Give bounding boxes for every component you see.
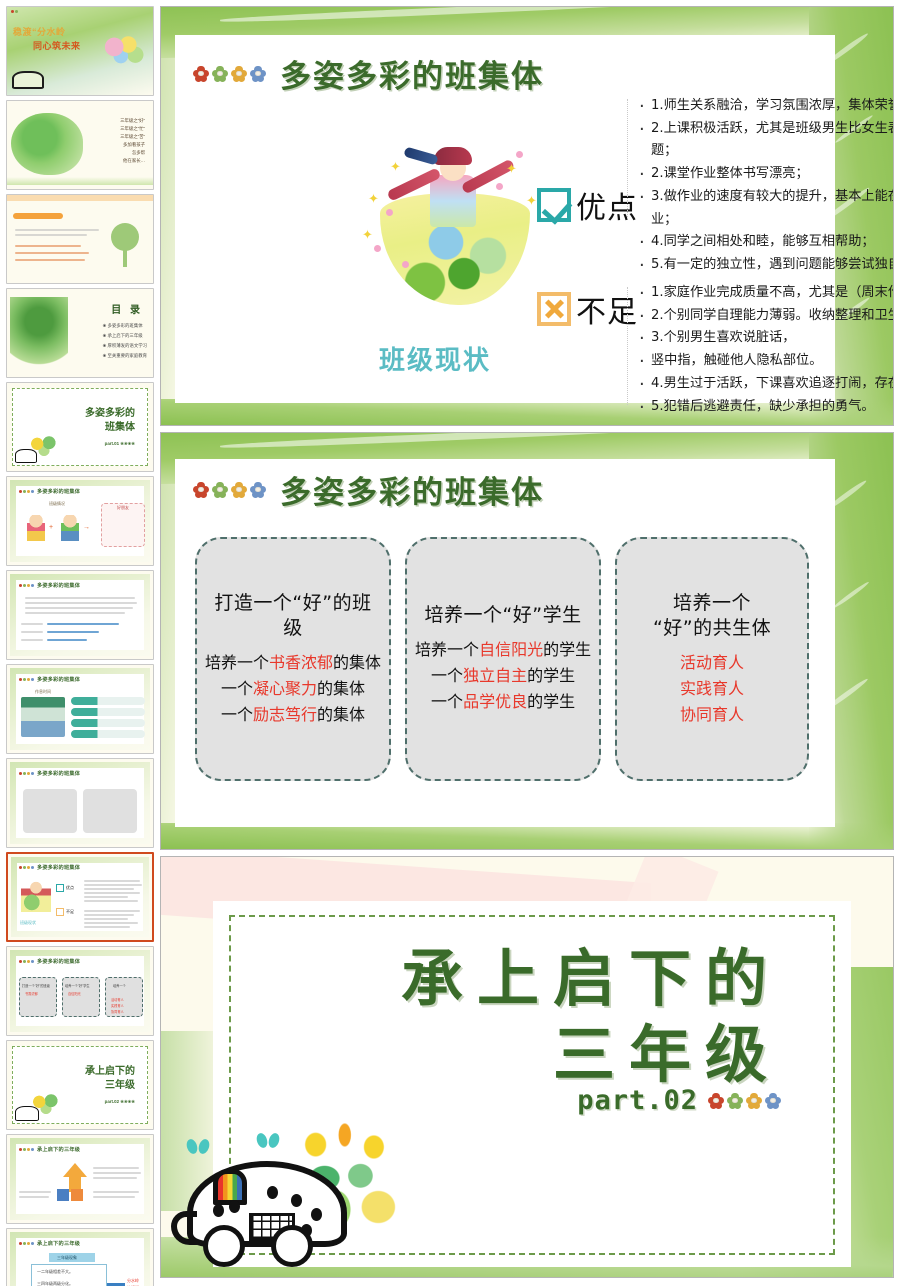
goal-box-row: 打造一个“好”的班级 培养一个书香浓郁的集体 一个凝心聚力的集体 一个励志笃行的…: [195, 537, 809, 781]
goal-post: 的集体: [333, 653, 381, 672]
slide2-header: 多姿多彩的班集体: [193, 467, 544, 512]
goal-highlight: 励志笃行: [253, 705, 317, 724]
list-item: 2.个别同学自理能力薄弱。收纳整理和卫生习惯较差。: [639, 305, 894, 328]
girl-illustration: ✦ ✦ ✦ ✦ ✦: [356, 135, 556, 335]
goal-heading: 培养一个 “好”的共生体: [653, 591, 771, 642]
car-window: [213, 1169, 247, 1205]
class-status-label: 班级现状: [379, 340, 491, 377]
part-title: 承上启下的 三年级: [401, 941, 781, 1092]
merit-divider: [627, 99, 628, 219]
slide1-title: 多姿多彩的班集体: [280, 51, 544, 96]
flower-blue-icon: [765, 1093, 781, 1109]
goal-pre: 一个: [221, 679, 253, 698]
goal-box-student[interactable]: 培养一个“好”学生 培养一个自信阳光的学生 一个独立自主的学生 一个品学优良的学…: [405, 537, 601, 781]
list-item: 2.上课积极活跃，尤其是班级男生比女生表现欲强，很喜欢回答问题；: [639, 118, 894, 163]
list-item: 2.课堂作业整体书写漂亮；: [639, 163, 894, 186]
goal-highlight: 品学优良: [463, 692, 527, 711]
thumb-phenom[interactable]: 承上启下的三年级 三年级现象 一二年级相差不大。 三四年级两级分化。 五六年级天…: [6, 1228, 154, 1286]
flower-red-icon: [193, 482, 209, 498]
flower-blue-icon: [250, 66, 266, 82]
thumb-part02[interactable]: 承上启下的三年级 part.02 ❀❀❀❀: [6, 1040, 154, 1130]
thumb-bars[interactable]: 多姿多彩的班集体 作息时间: [6, 664, 154, 754]
list-item: 5.犯错后逃避责任，缺少承担的勇气。: [639, 396, 894, 419]
list-item: 4.男生过于活跃，下课喜欢追逐打闹，存在较大安全隐患；: [639, 373, 894, 396]
part-title-line2: 三年级: [401, 1017, 781, 1093]
goal-pre: 培养一个: [205, 653, 269, 672]
flower-decoration-row: [708, 1093, 781, 1109]
goal-highlight: 自信阳光: [479, 640, 543, 659]
flower-blue-icon: [250, 482, 266, 498]
goal-pre: 一个: [431, 666, 463, 685]
demerit-tag: 不足: [537, 287, 638, 331]
goal-box-class[interactable]: 打造一个“好”的班级 培养一个书香浓郁的集体 一个凝心聚力的集体 一个励志笃行的…: [195, 537, 391, 781]
goal-line: 培养一个书香浓郁的集体: [205, 650, 381, 676]
goal-post: 的学生: [527, 692, 575, 711]
goal-pre: 培养一个: [415, 640, 479, 659]
goal-post: 的集体: [317, 679, 365, 698]
goal-line: 一个凝心聚力的集体: [221, 676, 365, 702]
flower-green-icon: [727, 1093, 743, 1109]
butterfly-icon: [187, 1139, 209, 1155]
merit-label: 优点: [576, 183, 638, 227]
goal-pre: 一个: [431, 692, 463, 711]
thumb-merits-selected[interactable]: 多姿多彩的班集体 优点 不足 班级现状: [6, 852, 154, 942]
car-wheel: [203, 1225, 245, 1267]
flower-green-icon: [212, 482, 228, 498]
thumb-threebox[interactable]: 多姿多彩的班集体 打造一个"好"的班级 培养一个"好"学生 培养一个 书香浓郁 …: [6, 946, 154, 1036]
goal-heading: 打造一个“好”的班级: [205, 591, 381, 642]
thumb-kids[interactable]: 多姿多彩的班集体 班级情况 + → 好朋友: [6, 476, 154, 566]
thumb-arrow[interactable]: 承上启下的三年级: [6, 1134, 154, 1224]
goal-line: 培养一个自信阳光的学生: [415, 637, 591, 663]
goal-pre: 一个: [221, 705, 253, 724]
demerit-divider: [627, 287, 628, 405]
powerpoint-slide-view: 稳渡“分水岭 同心筑未来 三年级之“好”三年级之“忙”三年级之“苦”多加看孩子怎…: [0, 0, 900, 1286]
goal-line: 一个励志笃行的集体: [221, 702, 365, 728]
list-item: 3.个别男生喜欢说脏话，: [639, 327, 894, 350]
list-item: 1.师生关系融洽，学习氛围浓厚，集体荣誉感较强；: [639, 95, 894, 118]
flower-yellow-icon: [231, 482, 247, 498]
checkbox-checked-icon: [537, 188, 571, 222]
demerit-label: 不足: [576, 287, 638, 331]
slide-thumbnail-rail[interactable]: 稳渡“分水岭 同心筑未来 三年级之“好”三年级之“忙”三年级之“苦”多加看孩子怎…: [0, 0, 160, 1286]
slide-part02-divider[interactable]: 承上启下的 三年级 part.02: [160, 856, 894, 1278]
slide1-header: 多姿多彩的班集体: [193, 51, 544, 96]
flower-green-icon: [212, 66, 228, 82]
thumb-hedgehog[interactable]: 三年级之“好”三年级之“忙”三年级之“苦”多加看孩子怎多帮他在家长…: [6, 100, 154, 190]
goal-highlight: 凝心聚力: [253, 679, 317, 698]
thumb-toc[interactable]: 目 录 ❀ 多姿多彩的班集体❀ 承上启下的三年级❀ 厚积薄发的语文学习❀ 至关重…: [6, 288, 154, 378]
goal-post: 的集体: [317, 705, 365, 724]
hand-drawn-car-illustration: [171, 1123, 401, 1273]
slide-merits-demerits[interactable]: 多姿多彩的班集体 ✦ ✦ ✦ ✦ ✦ 班级现状: [160, 6, 894, 426]
goal-highlight: 独立自主: [463, 666, 527, 685]
part-title-line1: 承上启下的: [401, 941, 781, 1017]
list-item: 3.做作业的速度有较大的提升，基本上能在规定的时间内完成作业；: [639, 186, 894, 231]
goal-line: 活动育人: [680, 650, 744, 676]
goal-post: 的学生: [527, 666, 575, 685]
list-item: 竖中指，触碰他人隐私部位。: [639, 350, 894, 373]
part-number-row: part.02: [577, 1085, 781, 1116]
thumb-part01[interactable]: 多姿多彩的班集体 part.01 ❀❀❀❀: [6, 382, 154, 472]
goal-line: 实践育人: [680, 676, 744, 702]
goal-line: 一个品学优良的学生: [431, 689, 575, 715]
flower-red-icon: [193, 66, 209, 82]
thumb-intro[interactable]: [6, 194, 154, 284]
goal-line: 协同育人: [680, 702, 744, 728]
flower-yellow-icon: [231, 66, 247, 82]
merit-tag: 优点: [537, 183, 638, 227]
thumb-text[interactable]: 多姿多彩的班集体: [6, 570, 154, 660]
merit-bullet-list: 1.师生关系融洽，学习氛围浓厚，集体荣誉感较强； 2.上课积极活跃，尤其是班级男…: [639, 95, 894, 277]
slide2-title: 多姿多彩的班集体: [280, 467, 544, 512]
list-item: 1.家庭作业完成质量不高，尤其是（周末作业）；: [639, 282, 894, 305]
goal-heading: 培养一个“好”学生: [424, 603, 581, 629]
car-wheel: [271, 1225, 313, 1267]
slide-class-goals[interactable]: 多姿多彩的班集体 打造一个“好”的班级 培养一个书香浓郁的集体 一个凝心聚力的集…: [160, 432, 894, 850]
flower-decoration-row: [193, 482, 266, 498]
butterfly-icon: [257, 1133, 279, 1149]
demerit-bullet-list: 1.家庭作业完成质量不高，尤其是（周末作业）； 2.个别同学自理能力薄弱。收纳整…: [639, 282, 894, 418]
part-label: part.02: [577, 1085, 698, 1116]
checkbox-x-icon: [537, 292, 571, 326]
slide-preview-column: 多姿多彩的班集体 ✦ ✦ ✦ ✦ ✦ 班级现状: [160, 0, 900, 1286]
flower-decoration-row: [193, 66, 266, 82]
goal-box-symbiosis[interactable]: 培养一个 “好”的共生体 活动育人 实践育人 协同育人: [615, 537, 809, 781]
flower-red-icon: [708, 1093, 724, 1109]
list-item: 5.有一定的独立性，遇到问题能够尝试独自解决。: [639, 254, 894, 277]
list-item: 4.同学之间相处和睦，能够互相帮助；: [639, 231, 894, 254]
goal-post: 的学生: [543, 640, 591, 659]
thumb-cover[interactable]: 稳渡“分水岭 同心筑未来: [6, 6, 154, 96]
thumb-twobox[interactable]: 多姿多彩的班集体: [6, 758, 154, 848]
flower-yellow-icon: [746, 1093, 762, 1109]
goal-highlight: 书香浓郁: [269, 653, 333, 672]
goal-line: 一个独立自主的学生: [431, 663, 575, 689]
